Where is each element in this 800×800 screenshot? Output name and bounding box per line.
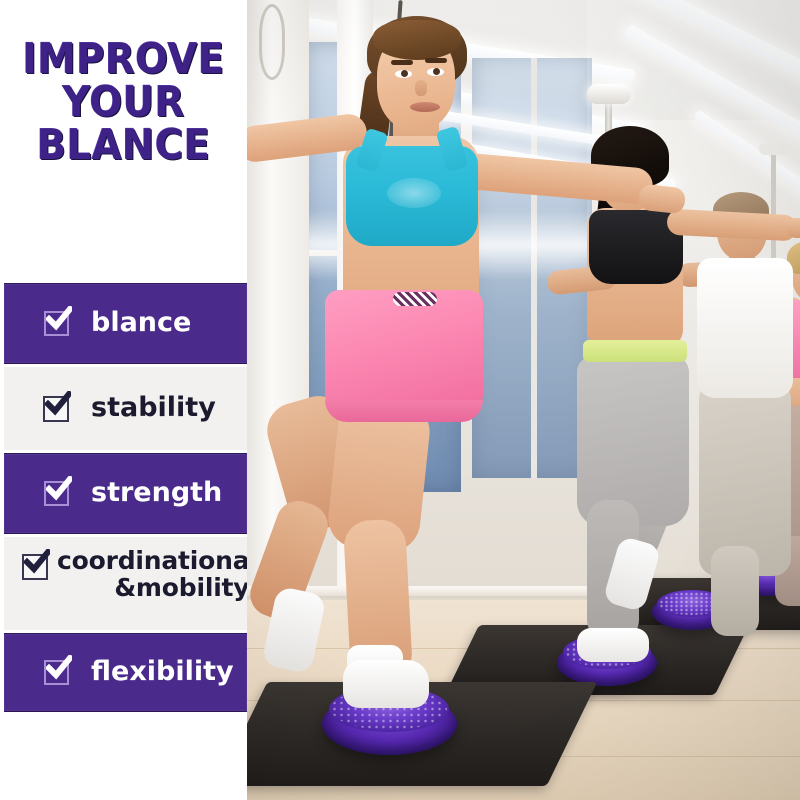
person-1-lips: [410, 102, 440, 112]
person-2-foot: [577, 628, 649, 662]
list-item-label: stability: [91, 394, 247, 423]
person-2-waistband: [583, 340, 687, 362]
list-item[interactable]: flexibility: [4, 633, 247, 712]
person-2-leggings: [577, 356, 689, 526]
person-3-leg: [711, 546, 759, 636]
person-1-standing-foot: [343, 660, 429, 708]
checkbox-checked-icon[interactable]: [44, 660, 69, 685]
person-1-drawstring: [393, 292, 437, 306]
product-lifestyle-photo: [247, 0, 800, 800]
person-1-pupil: [401, 70, 408, 77]
person-1-eyebrow: [391, 60, 413, 65]
list-item-label: strength: [91, 479, 247, 508]
left-info-panel: IMPROVE YOUR BLANCE blance: [0, 0, 247, 800]
checkbox-checked-icon[interactable]: [44, 481, 69, 506]
product-infographic: IMPROVE YOUR BLANCE blance: [0, 0, 800, 800]
light-stand-head: [759, 143, 789, 155]
list-item-label: blance: [91, 309, 247, 338]
list-item[interactable]: stability: [4, 367, 247, 450]
light-stand: [771, 150, 776, 270]
person-2-hand: [787, 218, 800, 238]
light-stand-head: [587, 84, 631, 104]
person-1-nose: [415, 80, 427, 96]
person-1-shorts-hem: [325, 400, 483, 422]
list-item-label: flexibility: [91, 658, 247, 687]
checkbox-checked-icon[interactable]: [43, 396, 69, 422]
person-1-eyebrow: [425, 58, 447, 63]
list-item[interactable]: blance: [4, 283, 247, 364]
page-title: IMPROVE YOUR BLANCE: [10, 38, 237, 165]
checkbox-checked-icon[interactable]: [22, 554, 48, 580]
person-1-right-hand: [638, 184, 686, 215]
person-1-bra-highlight: [387, 178, 441, 208]
person-1-hair: [373, 20, 461, 60]
list-item[interactable]: coordinationa &mobility: [4, 537, 247, 630]
headline-line-2: YOUR: [10, 81, 237, 122]
person-3-tank-top: [697, 258, 793, 398]
feature-benefit-list: blance stability: [0, 283, 247, 712]
list-item-label: coordinationa &mobility: [57, 548, 247, 601]
wall-hook-icon: [259, 4, 285, 80]
checkbox-checked-icon[interactable]: [44, 311, 69, 336]
headline-line-1: IMPROVE: [10, 38, 237, 79]
person-1-pupil: [433, 68, 440, 75]
list-item[interactable]: strength: [4, 453, 247, 534]
headline-line-3: BLANCE: [10, 124, 237, 165]
